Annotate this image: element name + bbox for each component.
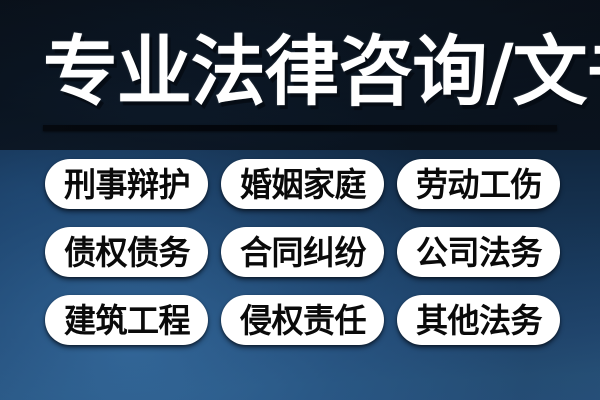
service-row: 建筑工程 侵权责任 其他法务 [45, 295, 560, 345]
service-pill-tort-liability[interactable]: 侵权责任 [221, 295, 384, 345]
service-pill-debt-claims[interactable]: 债权债务 [45, 227, 208, 277]
service-pill-label: 婚姻家庭 [239, 168, 365, 201]
service-pill-other-legal[interactable]: 其他法务 [397, 295, 560, 345]
title-divider [43, 125, 557, 131]
service-pill-contract-disputes[interactable]: 合同纠纷 [221, 227, 384, 277]
service-pill-label: 侵权责任 [239, 304, 365, 337]
service-pill-label: 债权债务 [63, 236, 189, 269]
service-row: 刑事辩护 婚姻家庭 劳动工伤 [45, 159, 560, 209]
service-pill-grid: 刑事辩护 婚姻家庭 劳动工伤 债权债务 合同纠纷 公司法务 建筑工程 [45, 159, 560, 345]
promo-poster: 专业法律咨询/文书代写 刑事辩护 婚姻家庭 劳动工伤 债权债务 合同纠纷 公司法… [0, 0, 600, 400]
service-pill-labor-injury[interactable]: 劳动工伤 [397, 159, 560, 209]
title-container: 专业法律咨询/文书代写 [43, 24, 559, 120]
service-pill-label: 劳动工伤 [415, 168, 541, 201]
page-title: 专业法律咨询/文书代写 [43, 34, 600, 110]
service-pill-criminal-defense[interactable]: 刑事辩护 [45, 159, 208, 209]
service-pill-label: 其他法务 [415, 304, 541, 337]
service-pill-corporate-legal[interactable]: 公司法务 [397, 227, 560, 277]
service-pill-construction-engineering[interactable]: 建筑工程 [45, 295, 208, 345]
service-pill-label: 刑事辩护 [63, 168, 189, 201]
service-pill-label: 合同纠纷 [239, 236, 365, 269]
service-row: 债权债务 合同纠纷 公司法务 [45, 227, 560, 277]
service-pill-label: 建筑工程 [63, 304, 189, 337]
service-pill-marriage-family[interactable]: 婚姻家庭 [221, 159, 384, 209]
service-pill-label: 公司法务 [415, 236, 541, 269]
